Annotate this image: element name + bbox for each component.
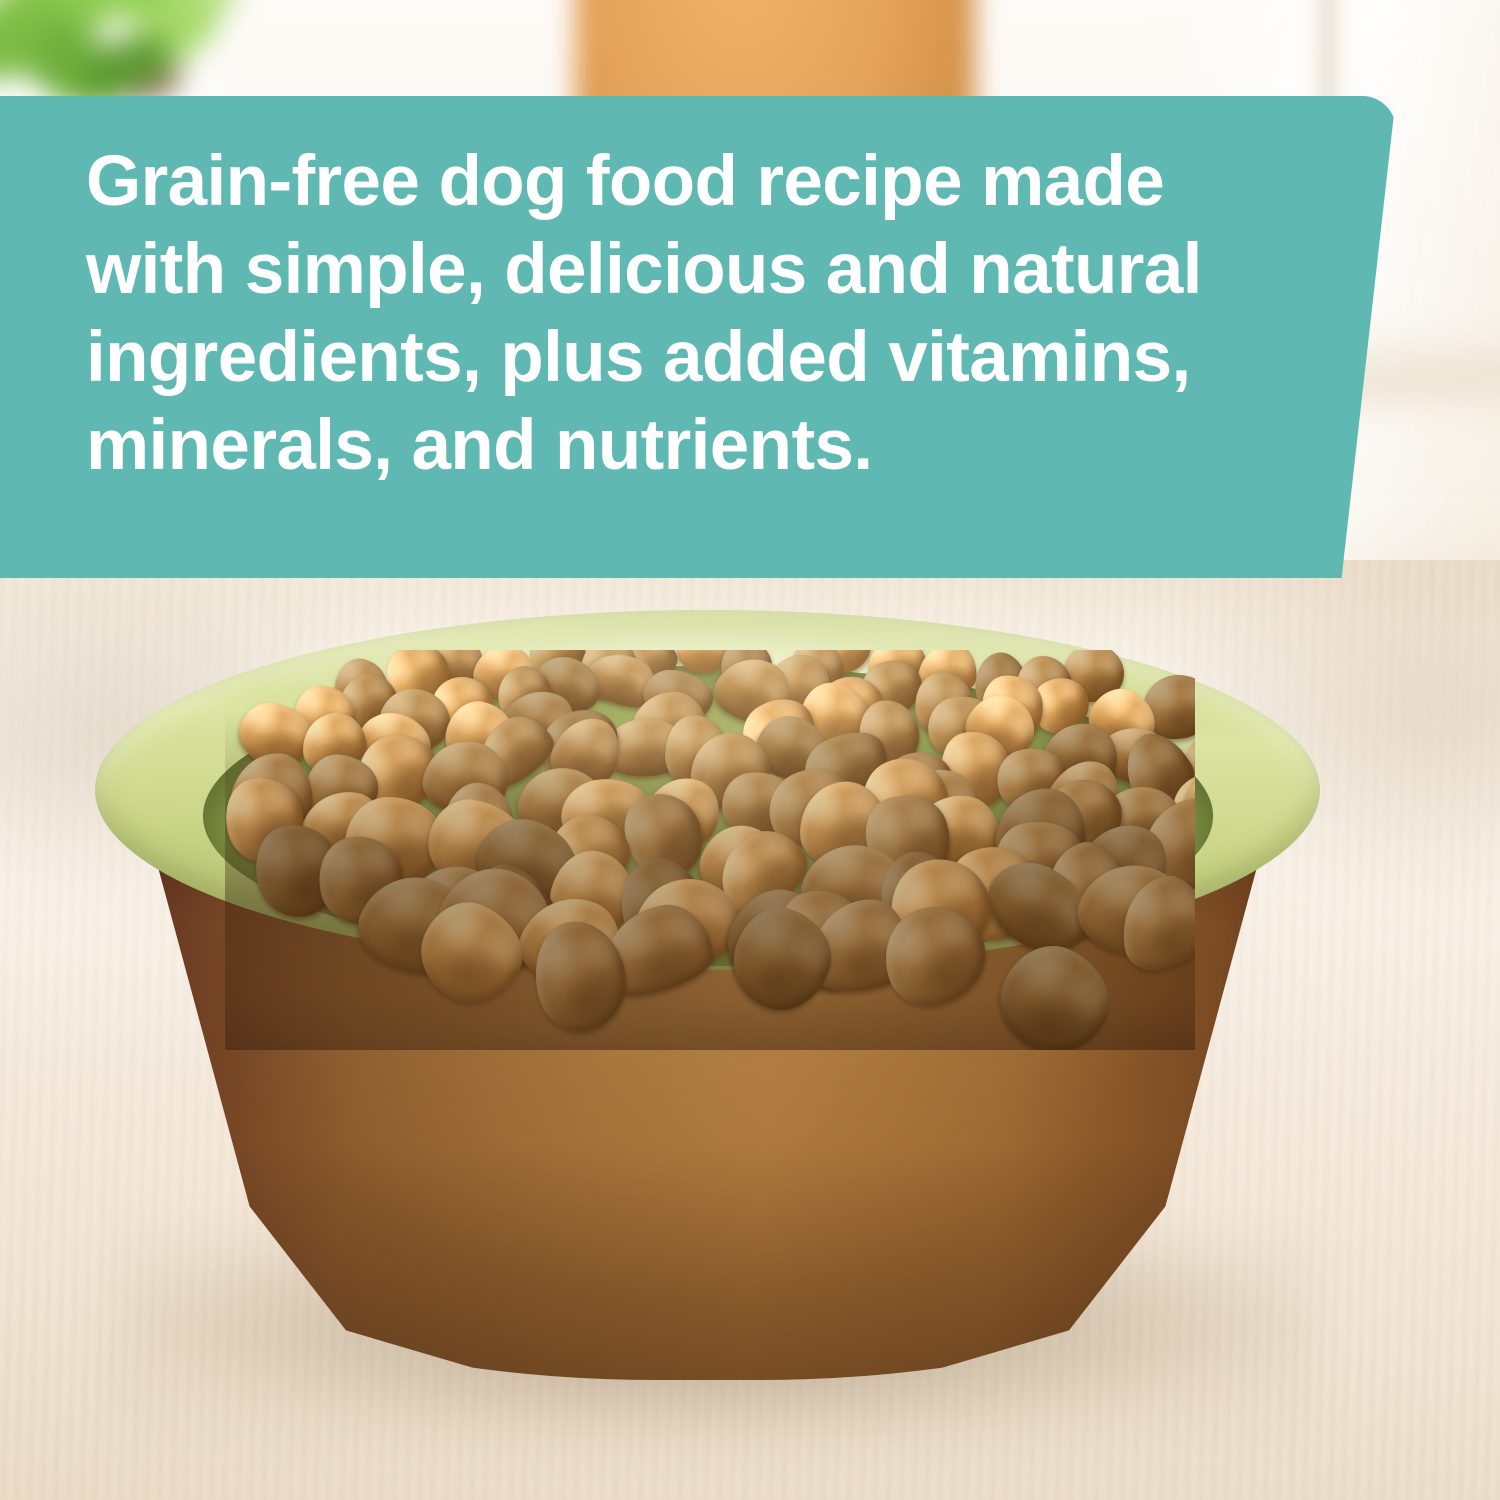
- banner-headline: Grain-free dog food recipe made with sim…: [86, 138, 1336, 490]
- kibble-piece: [984, 930, 1126, 1050]
- dog-food-bowl: [95, 610, 1320, 1400]
- kibble-pile: [225, 650, 1195, 1050]
- teal-callout-banner: Grain-free dog food recipe made with sim…: [0, 96, 1396, 578]
- product-photo-scene: Grain-free dog food recipe made with sim…: [0, 0, 1500, 1500]
